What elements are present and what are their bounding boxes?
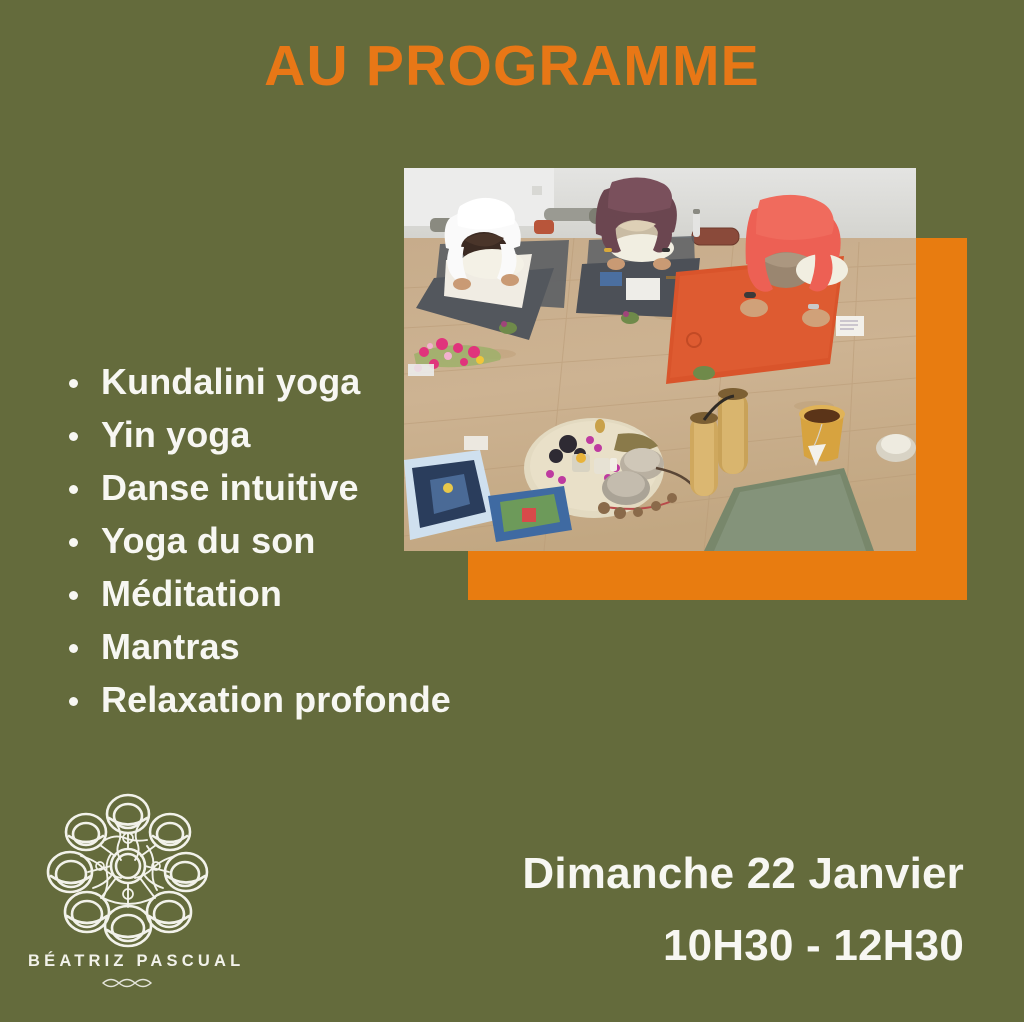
poster-canvas: AU PROGRAMME [0,0,1024,1022]
list-item: Méditation [63,567,533,620]
program-list: Kundalini yoga Yin yoga Danse intuitive … [63,355,533,726]
brand-name: BÉATRIZ PASCUAL [28,952,228,971]
bullet-icon [69,591,78,600]
list-item-label: Relaxation profonde [101,679,451,720]
list-item-label: Méditation [101,573,282,614]
page-title: AU PROGRAMME [0,38,1024,95]
event-date: Dimanche 22 Janvier [522,838,964,910]
list-item: Kundalini yoga [63,355,533,408]
bullet-icon [69,379,78,388]
mandala-singing-bowls-icon [43,788,213,948]
list-item-label: Kundalini yoga [101,361,360,402]
brand-logo: BÉATRIZ PASCUAL [28,788,228,992]
list-item: Yin yoga [63,408,533,461]
bullet-icon [69,538,78,547]
list-item-label: Yin yoga [101,414,251,455]
list-item-label: Yoga du son [101,520,315,561]
list-item: Mantras [63,620,533,673]
schedule-block: Dimanche 22 Janvier 10H30 - 12H30 [522,838,964,982]
list-item: Danse intuitive [63,461,533,514]
bullet-icon [69,697,78,706]
bullet-icon [69,432,78,441]
infinity-flourish-icon [99,974,157,992]
list-item: Yoga du son [63,514,533,567]
bullet-icon [69,485,78,494]
event-time: 10H30 - 12H30 [522,910,964,982]
list-item-label: Danse intuitive [101,467,359,508]
list-item: Relaxation profonde [63,673,533,726]
list-item-label: Mantras [101,626,240,667]
bullet-icon [69,644,78,653]
